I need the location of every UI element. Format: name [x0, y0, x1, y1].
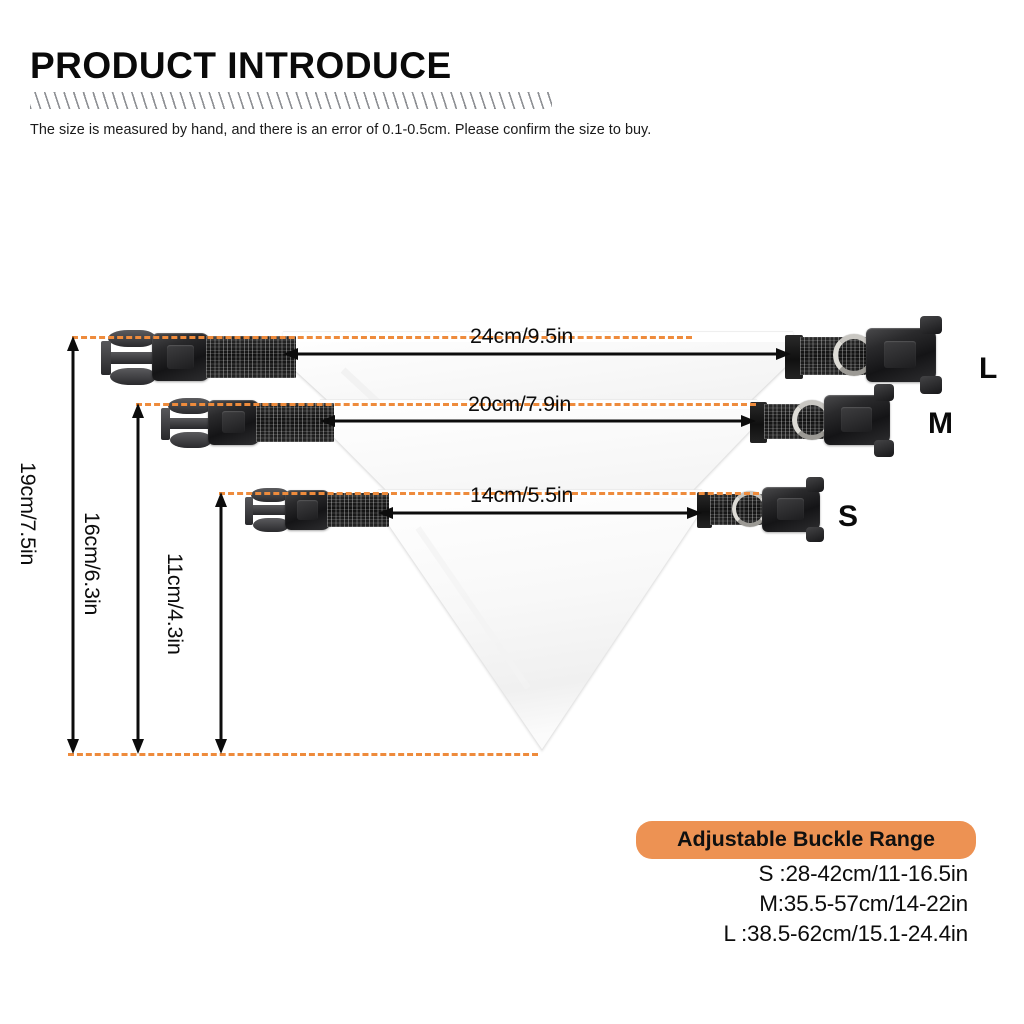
buckle-stem-2-medium: [161, 408, 170, 440]
height-arrow-large: [66, 336, 80, 754]
height-arrow-small: [214, 492, 228, 754]
height-label-small: 11cm/4.3in: [162, 553, 187, 655]
buckle-right-small: [762, 487, 820, 532]
buckle-release-nub-small: [806, 477, 824, 492]
guide-line-top-large: [72, 336, 692, 339]
height-label-large: 19cm/7.5in: [15, 462, 40, 565]
guide-line-top-medium: [136, 403, 756, 406]
legend-row-small: S :28-42cm/11-16.5in: [636, 859, 976, 889]
buckle-prong-lower-large: [110, 368, 156, 385]
buckle-stem-2-small: [245, 497, 253, 525]
buckle-prong-upper-medium: [168, 398, 212, 414]
buckle-prong-lower-medium: [170, 432, 212, 448]
buckle-stem-2-large: [101, 341, 111, 375]
buckle-release-nub-lower-large: [920, 376, 942, 394]
width-label-medium: 20cm/7.9in: [468, 392, 571, 417]
buckle-stem-large: [103, 352, 158, 364]
width-arrow-small: [378, 506, 702, 520]
buckle-left-small: [285, 490, 331, 530]
buckle-release-nub-large: [920, 316, 942, 334]
legend-row-medium: M:35.5-57cm/14-22in: [636, 889, 976, 919]
product-size-chart-page: PRODUCT INTRODUCE The size is measured b…: [0, 0, 1024, 1024]
height-label-medium: 16cm/6.3in: [79, 512, 104, 615]
width-label-large: 24cm/9.5in: [470, 324, 573, 349]
width-label-small: 14cm/5.5in: [470, 483, 573, 508]
height-arrow-medium: [131, 403, 145, 754]
size-tag-small: S: [838, 500, 858, 534]
buckle-left-large: [152, 333, 210, 381]
width-arrow-large: [283, 347, 791, 361]
buckle-release-nub-lower-small: [806, 527, 824, 542]
buckle-prong-upper-small: [251, 488, 289, 502]
buckle-release-nub-medium: [874, 384, 894, 401]
size-tag-medium: M: [928, 407, 953, 441]
size-tag-large: L: [979, 352, 997, 386]
buckle-prong-lower-small: [253, 518, 289, 532]
legend-badge-title: Adjustable Buckle Range: [636, 821, 976, 859]
buckle-left-medium: [208, 400, 260, 445]
buckle-right-medium: [824, 395, 890, 445]
legend-row-large: L :38.5-62cm/15.1-24.4in: [636, 919, 976, 949]
adjustable-buckle-range-panel: Adjustable Buckle Range S :28-42cm/11-16…: [636, 821, 976, 949]
buckle-release-nub-lower-medium: [874, 440, 894, 457]
buckle-right-large: [866, 328, 936, 382]
bandana-fabric-small: [378, 488, 702, 768]
